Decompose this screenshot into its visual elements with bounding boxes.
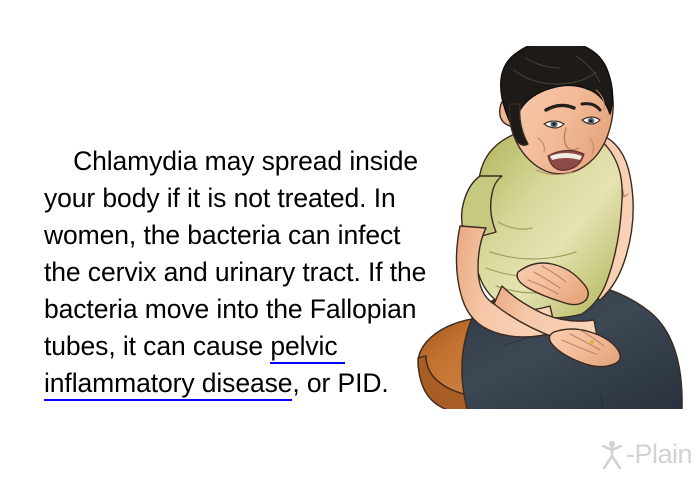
- woman-abdominal-pain-illustration: [386, 46, 700, 414]
- paragraph-segment-before-link: Chlamydia may spread inside your body if…: [44, 146, 434, 361]
- slide-canvas: Chlamydia may spread inside your body if…: [0, 0, 700, 480]
- x-plain-figure-icon: [599, 439, 625, 469]
- logo-wordmark: -Plain: [626, 441, 692, 468]
- body-paragraph: Chlamydia may spread inside your body if…: [44, 106, 436, 439]
- x-plain-logo: -Plain: [599, 436, 692, 472]
- paragraph-segment-after-link: , or PID.: [292, 368, 388, 398]
